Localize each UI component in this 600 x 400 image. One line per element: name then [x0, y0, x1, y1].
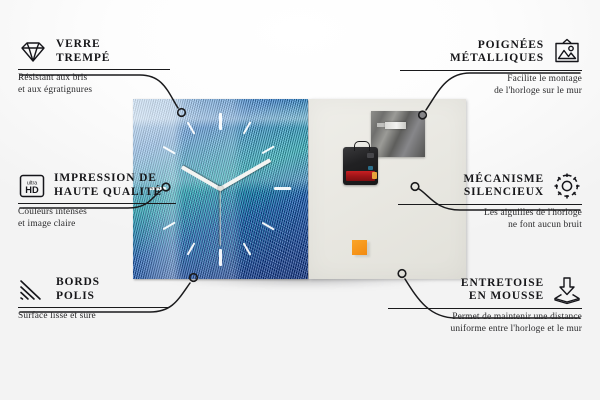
callout-poignees-metalliques[interactable]: POIGNÉESMÉTALLIQUES Facilite le montaged… [400, 38, 582, 97]
callout-subtitle: Les aiguilles de l'horlogene font aucun … [398, 208, 582, 231]
clock-tick [274, 187, 291, 190]
mechanism-detail [367, 153, 374, 158]
callout-divider [18, 307, 168, 308]
callout-subtitle: Facilite le montagede l'horloge sur le m… [400, 74, 582, 97]
clock-hands-hub [218, 186, 223, 191]
foam-spacer [352, 240, 367, 255]
callout-impression-haute-qualite[interactable]: ultra HD IMPRESSION DEHAUTE QUALITÉ Coul… [18, 172, 198, 230]
callout-mecanisme-silencieux[interactable]: MÉCANISMESILENCIEUX [398, 172, 582, 231]
callout-entretoise-en-mousse[interactable]: ENTRETOISEEN MOUSSE Permet de maintenir … [388, 276, 582, 335]
polished-edges-icon [18, 278, 48, 302]
callout-divider [18, 203, 176, 204]
clock-second-hand [219, 189, 220, 245]
callout-subtitle: Permet de maintenir une distanceuniforme… [388, 312, 582, 335]
callout-divider [398, 204, 582, 205]
callout-header: ultra HD IMPRESSION DEHAUTE QUALITÉ [18, 172, 198, 199]
callout-divider [400, 70, 582, 71]
callout-divider [388, 308, 582, 309]
callout-header: VERRETREMPÉ [18, 38, 188, 65]
callout-title: POIGNÉESMÉTALLIQUES [450, 39, 544, 66]
callout-title: IMPRESSION DEHAUTE QUALITÉ [54, 172, 162, 199]
clock-tick [219, 113, 222, 130]
foam-spacer-icon [552, 276, 582, 304]
callout-title: BORDSPOLIS [56, 276, 100, 303]
metal-hanger-plate [371, 111, 425, 157]
ultra-hd-icon: ultra HD [18, 173, 46, 199]
callout-header: ENTRETOISEEN MOUSSE [388, 276, 582, 304]
callout-subtitle: Résistant aux briset aux égratignures [18, 73, 188, 96]
callout-subtitle: Surface lisse et sûre [18, 311, 188, 323]
mechanism-label [368, 166, 373, 170]
clock-mechanism [343, 147, 378, 185]
callout-header: POIGNÉESMÉTALLIQUES [400, 38, 582, 66]
callout-divider [18, 69, 170, 70]
mechanism-hook [354, 141, 370, 151]
battery [346, 171, 375, 181]
callout-header: MÉCANISMESILENCIEUX [398, 172, 582, 200]
ultra-hd-icon-bottom: HD [25, 185, 39, 195]
infographic-canvas: VERRETREMPÉ Résistant aux briset aux égr… [0, 0, 600, 400]
gear-icon [552, 172, 582, 200]
callout-verre-trempe[interactable]: VERRETREMPÉ Résistant aux briset aux égr… [18, 38, 188, 96]
callout-title: VERRETREMPÉ [56, 38, 110, 65]
clock-tick [219, 249, 222, 266]
callout-title: ENTRETOISEEN MOUSSE [461, 277, 544, 304]
picture-hanger-icon [552, 38, 582, 66]
callout-subtitle: Couleurs intenseset image claire [18, 207, 198, 230]
callout-header: BORDSPOLIS [18, 276, 188, 303]
callout-bords-polis[interactable]: BORDSPOLIS Surface lisse et sûre [18, 276, 188, 323]
diamond-icon [18, 40, 48, 64]
callout-title: MÉCANISMESILENCIEUX [464, 173, 545, 200]
